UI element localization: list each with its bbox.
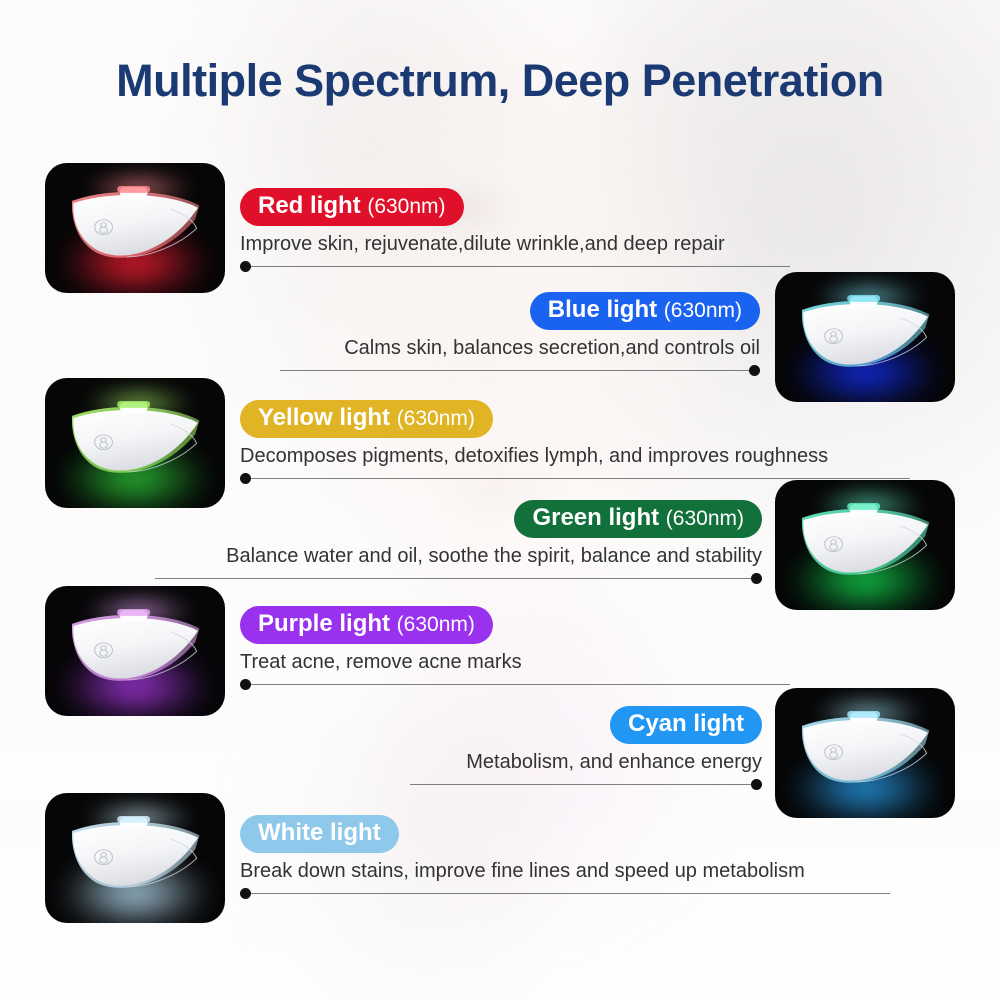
visor-device-icon: [798, 711, 935, 797]
light-wavelength-purple: (630nm): [397, 613, 475, 636]
spectrum-row-blue: Blue light (630nm)Calms skin, balances s…: [280, 292, 760, 376]
connector-dot-white: [240, 888, 251, 899]
connector-dot-green: [751, 573, 762, 584]
visor-device-icon: [798, 503, 935, 589]
connector-dot-purple: [240, 679, 251, 690]
product-image-cyan: [775, 688, 955, 818]
spectrum-row-green: Green light (630nm)Balance water and oil…: [155, 500, 762, 584]
connector-line-blue: [280, 364, 760, 376]
light-name-white: White light: [258, 819, 381, 846]
visor-device-icon: [68, 609, 205, 695]
light-wavelength-red: (630nm): [367, 195, 445, 218]
visor-device-icon: [798, 295, 935, 381]
visor-device-icon: [68, 816, 205, 902]
light-wavelength-green: (630nm): [666, 507, 744, 530]
connector-line-purple: [240, 678, 790, 690]
connector-line-cyan: [410, 778, 762, 790]
connector-dot-yellow: [240, 473, 251, 484]
light-description-yellow: Decomposes pigments, detoxifies lymph, a…: [240, 445, 910, 468]
light-wavelength-blue: (630nm): [664, 299, 742, 322]
spectrum-row-purple: Purple light (630nm)Treat acne, remove a…: [240, 606, 790, 690]
light-description-purple: Treat acne, remove acne marks: [240, 651, 790, 674]
spectrum-row-white: White lightBreak down stains, improve fi…: [240, 815, 890, 899]
light-badge-yellow: Yellow light (630nm): [240, 400, 493, 438]
light-wavelength-yellow: (630nm): [397, 407, 475, 430]
spectrum-row-cyan: Cyan lightMetabolism, and enhance energy: [410, 706, 762, 790]
product-image-green: [775, 480, 955, 610]
light-description-red: Improve skin, rejuvenate,dilute wrinkle,…: [240, 233, 790, 256]
visor-device-icon: [68, 401, 205, 487]
infographic-poster: Multiple Spectrum, Deep Penetration Red …: [0, 0, 1000, 1000]
spectrum-row-yellow: Yellow light (630nm)Decomposes pigments,…: [240, 400, 910, 484]
light-name-red: Red light: [258, 192, 361, 219]
light-name-yellow: Yellow light: [258, 404, 390, 431]
spectrum-row-red: Red light (630nm)Improve skin, rejuvenat…: [240, 188, 790, 272]
product-image-red: [45, 163, 225, 293]
light-badge-green: Green light (630nm): [514, 500, 762, 538]
connector-dot-blue: [749, 365, 760, 376]
light-badge-cyan: Cyan light: [610, 706, 762, 744]
light-name-cyan: Cyan light: [628, 710, 744, 737]
product-image-white: [45, 793, 225, 923]
connector-dot-cyan: [751, 779, 762, 790]
connector-line-green: [155, 572, 762, 584]
product-image-purple: [45, 586, 225, 716]
visor-device-icon: [68, 186, 205, 272]
connector-dot-red: [240, 261, 251, 272]
product-image-blue: [775, 272, 955, 402]
light-name-blue: Blue light: [548, 296, 657, 323]
light-description-cyan: Metabolism, and enhance energy: [410, 751, 762, 774]
light-badge-white: White light: [240, 815, 399, 853]
page-title: Multiple Spectrum, Deep Penetration: [0, 55, 1000, 107]
connector-line-red: [240, 260, 790, 272]
light-name-green: Green light: [532, 504, 659, 531]
light-description-blue: Calms skin, balances secretion,and contr…: [280, 337, 760, 360]
product-image-yellow: [45, 378, 225, 508]
light-badge-purple: Purple light (630nm): [240, 606, 493, 644]
light-description-green: Balance water and oil, soothe the spirit…: [155, 545, 762, 568]
light-badge-red: Red light (630nm): [240, 188, 464, 226]
light-description-white: Break down stains, improve fine lines an…: [240, 860, 890, 883]
light-badge-blue: Blue light (630nm): [530, 292, 760, 330]
connector-line-white: [240, 887, 890, 899]
light-name-purple: Purple light: [258, 610, 390, 637]
